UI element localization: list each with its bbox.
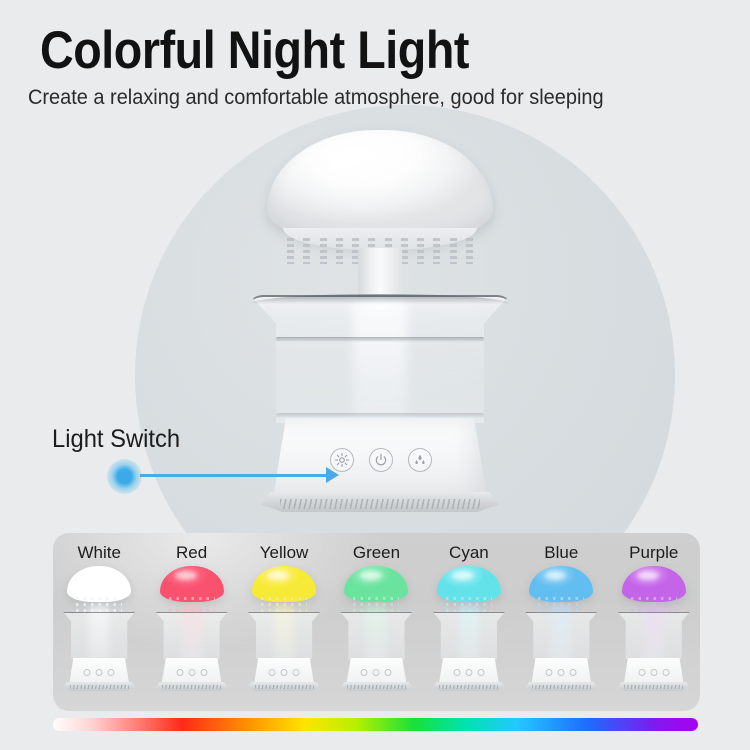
swatch-tank [525, 612, 597, 659]
swatch-light-icon [84, 669, 91, 676]
color-swatch-row: WhiteRedYellowGreenCyanBluePurple [53, 533, 700, 711]
swatch-power-icon [373, 669, 380, 676]
swatch-light-icon [638, 669, 645, 676]
color-spectrum-bar[interactable] [53, 718, 698, 731]
swatch-tank [618, 612, 690, 659]
power-control-button[interactable] [369, 448, 393, 472]
color-swatch-label: Blue [515, 543, 607, 563]
callout-line [140, 474, 336, 477]
swatch-rim [248, 682, 320, 691]
color-swatch[interactable]: Green [330, 533, 422, 711]
swatch-power-icon [465, 669, 472, 676]
swatch-light-icon [176, 669, 183, 676]
color-swatch[interactable]: White [53, 533, 145, 711]
page-subtitle: Create a relaxing and comfortable atmosp… [28, 86, 604, 110]
color-swatch-label: Purple [608, 543, 700, 563]
swatch-rim [340, 682, 412, 691]
swatch-device-preview [244, 566, 324, 694]
swatch-control-dots [176, 669, 207, 676]
swatch-power-icon [558, 669, 565, 676]
swatch-tank [340, 612, 412, 659]
swatch-power-icon [650, 669, 657, 676]
color-swatch[interactable]: Yellow [238, 533, 330, 711]
product-hero-image [235, 130, 525, 530]
swatch-mist-icon [570, 669, 577, 676]
color-swatch[interactable]: Purple [608, 533, 700, 711]
color-swatch-label: Cyan [423, 543, 515, 563]
swatch-control-dots [453, 669, 484, 676]
tank-bottom-ring [276, 413, 484, 418]
swatch-power-icon [96, 669, 103, 676]
callout-marker-dot [107, 459, 142, 494]
power-icon [374, 453, 388, 467]
swatch-tank [63, 612, 135, 659]
swatch-device-preview [429, 566, 509, 694]
swatch-rim [156, 682, 228, 691]
callout-arrow-icon [326, 467, 339, 483]
mist-icon [413, 453, 428, 468]
swatch-light-icon [269, 669, 276, 676]
color-swatch[interactable]: Red [145, 533, 237, 711]
swatch-control-dots [546, 669, 577, 676]
swatch-rim [618, 682, 690, 691]
swatch-mist-icon [662, 669, 669, 676]
swatch-light-icon [453, 669, 460, 676]
swatch-power-icon [281, 669, 288, 676]
swatch-control-dots [638, 669, 669, 676]
light-icon [335, 453, 350, 468]
control-panel [330, 448, 432, 472]
color-swatch[interactable]: Blue [515, 533, 607, 711]
swatch-device-preview [521, 566, 601, 694]
swatch-mist-icon [200, 669, 207, 676]
swatch-tank [248, 612, 320, 659]
color-swatch-label: White [53, 543, 145, 563]
swatch-light-icon [546, 669, 553, 676]
mist-control-button[interactable] [408, 448, 432, 472]
swatch-device-preview [614, 566, 694, 694]
swatch-device-preview [59, 566, 139, 694]
swatch-control-dots [84, 669, 115, 676]
swatch-rim [525, 682, 597, 691]
color-swatch[interactable]: Cyan [423, 533, 515, 711]
swatch-control-dots [269, 669, 300, 676]
swatch-light-icon [361, 669, 368, 676]
swatch-mist-icon [385, 669, 392, 676]
swatch-rim [433, 682, 505, 691]
water-line [276, 337, 484, 342]
swatch-control-dots [361, 669, 392, 676]
swatch-power-icon [188, 669, 195, 676]
light-switch-label: Light Switch [52, 425, 180, 454]
color-swatch-panel: WhiteRedYellowGreenCyanBluePurple [53, 533, 700, 711]
color-swatch-label: Yellow [238, 543, 330, 563]
color-swatch-label: Red [145, 543, 237, 563]
swatch-mist-icon [477, 669, 484, 676]
water-tank [250, 295, 510, 423]
swatch-tank [433, 612, 505, 659]
swatch-device-preview [336, 566, 416, 694]
swatch-mist-icon [293, 669, 300, 676]
page-title: Colorful Night Light [40, 20, 469, 81]
swatch-rim [63, 682, 135, 691]
swatch-mist-icon [108, 669, 115, 676]
color-swatch-label: Green [330, 543, 422, 563]
swatch-device-preview [152, 566, 232, 694]
swatch-tank [156, 612, 228, 659]
base-rim [261, 492, 499, 512]
